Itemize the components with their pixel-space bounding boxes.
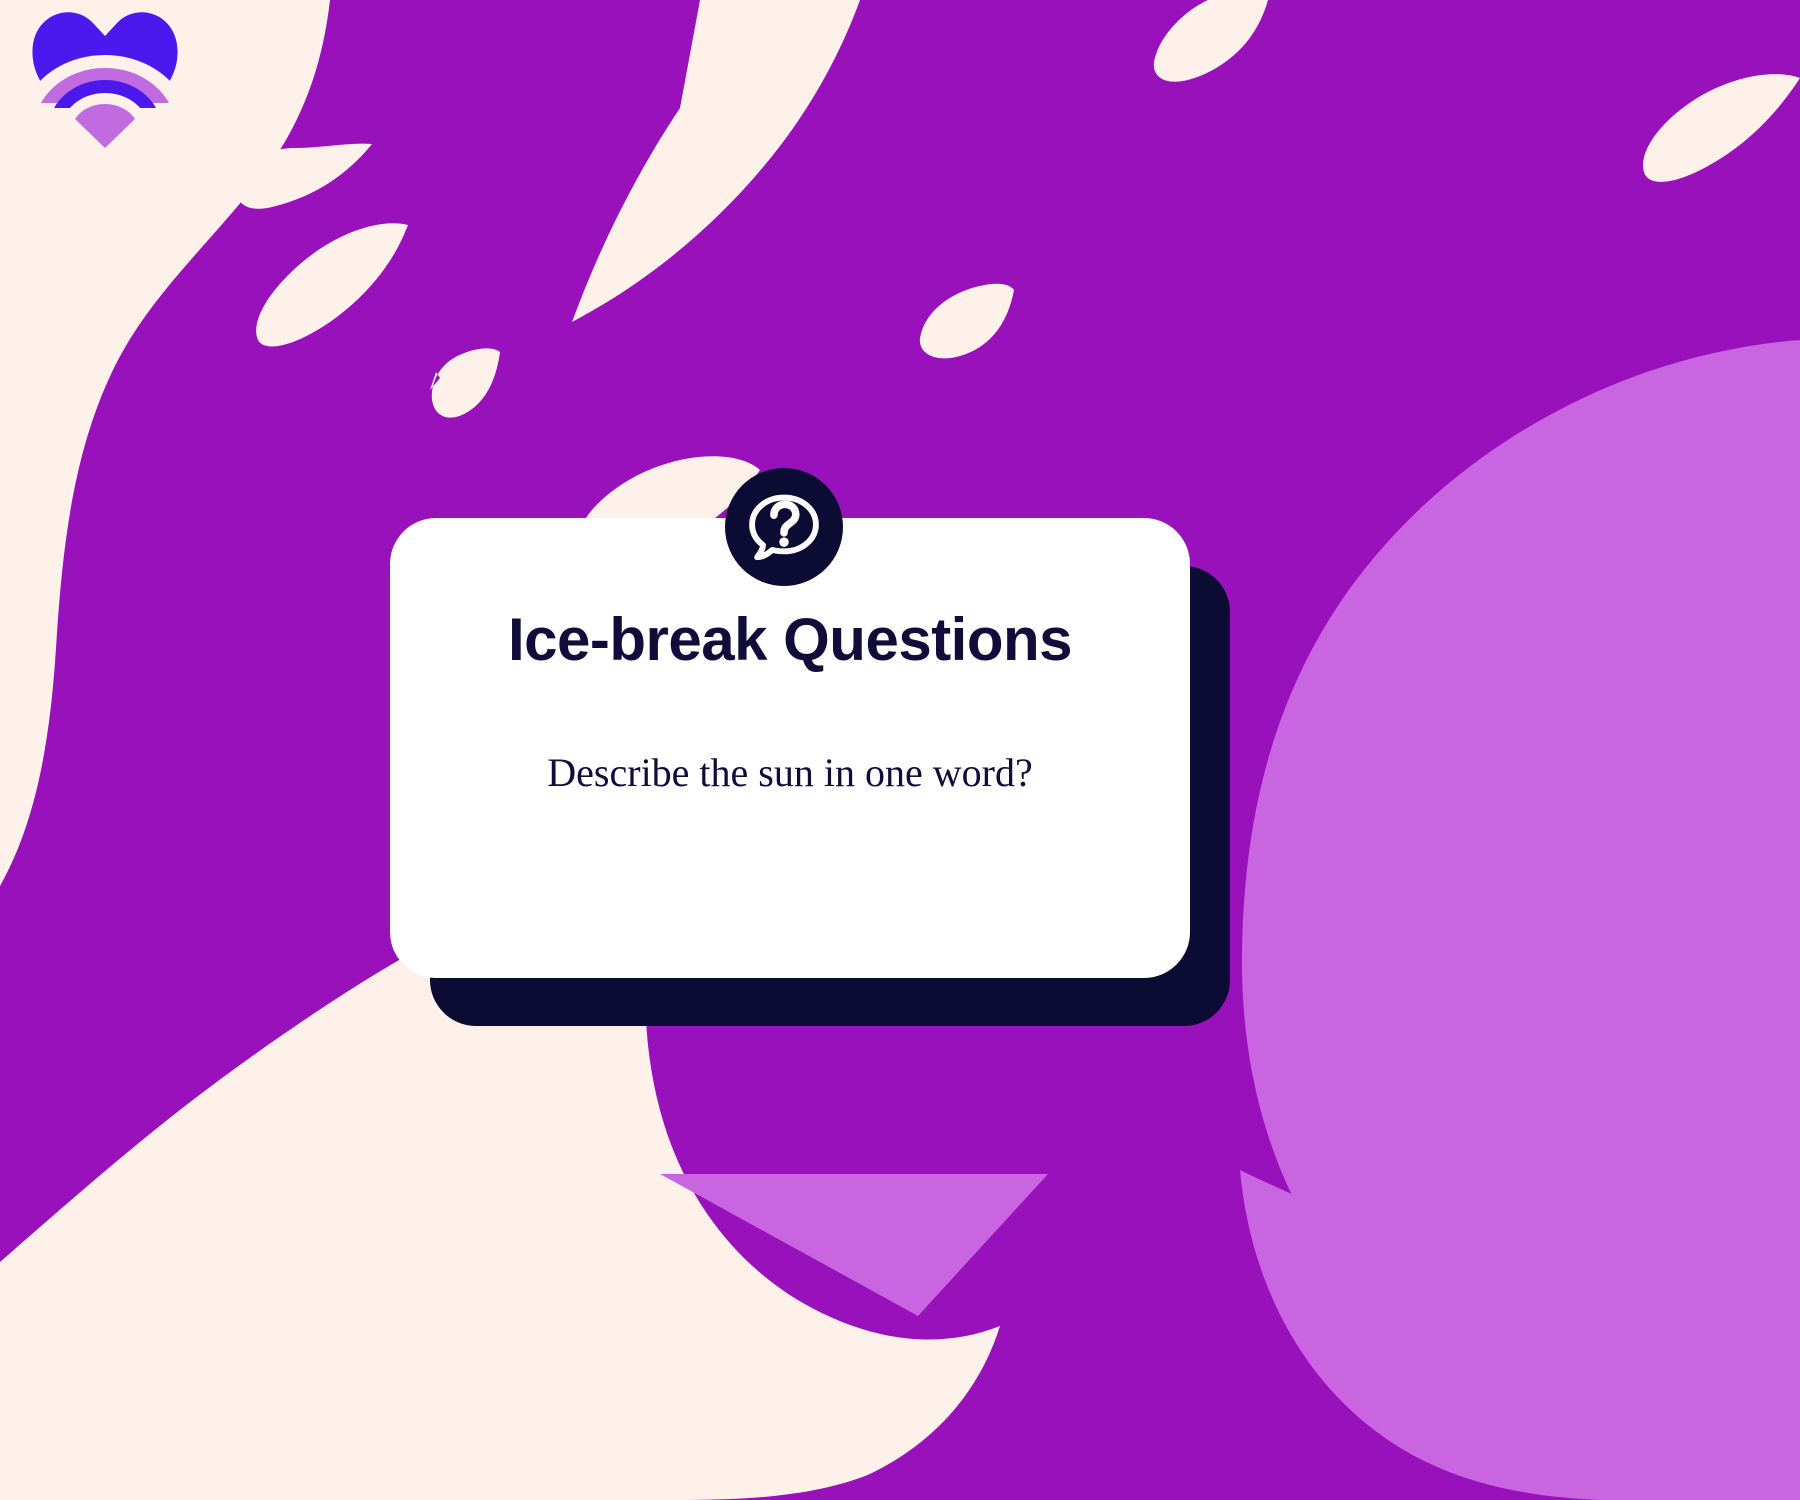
- question-badge[interactable]: [725, 468, 843, 586]
- card-title: Ice-break Questions: [450, 608, 1130, 671]
- poster-canvas: Ice-break Questions Describe the sun in …: [0, 0, 1800, 1500]
- heart-wifi-logo[interactable]: [30, 8, 180, 153]
- question-mark-hook: [774, 504, 796, 533]
- question-card[interactable]: Ice-break Questions Describe the sun in …: [390, 518, 1190, 978]
- question-card-wrapper: Ice-break Questions Describe the sun in …: [390, 518, 1190, 978]
- card-question-text: Describe the sun in one word?: [450, 671, 1130, 799]
- heart-wifi-logo-icon: [30, 8, 180, 153]
- question-speech-bubble-icon: [742, 485, 826, 569]
- question-mark-dot: [779, 537, 788, 546]
